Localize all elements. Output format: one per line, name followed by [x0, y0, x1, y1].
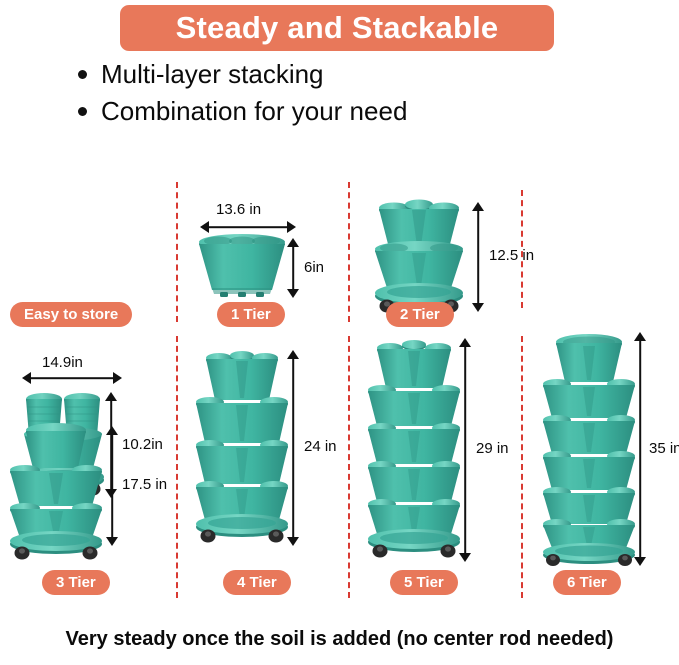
- arrow-shaft: [292, 245, 294, 291]
- footer-caption: Very steady once the soil is added (no c…: [0, 628, 679, 651]
- height-dimension-label: 17.5 in: [122, 476, 167, 493]
- height-dimension-arrow: [471, 202, 485, 312]
- height-dimension-arrow: [286, 238, 300, 298]
- badge-label: 5 Tier: [404, 574, 444, 591]
- badge-six-tier: 6 Tier: [553, 570, 621, 595]
- height-dimension-label: 29 in: [476, 440, 509, 457]
- page-title: Steady and Stackable: [176, 10, 499, 46]
- height-dimension-label: 12.5 in: [489, 247, 534, 264]
- planter-graphic-five-tier: [366, 336, 462, 564]
- planter-graphic-two-tier: [372, 196, 466, 316]
- badge-two-tier: 2 Tier: [386, 302, 454, 327]
- height-dimension-label: 6in: [304, 259, 324, 276]
- panel-one-tier: 13.6 in 6in: [176, 178, 348, 328]
- badge-label: 6 Tier: [567, 574, 607, 591]
- panel-five-tier: 29 in: [348, 336, 521, 598]
- bullet-label: Combination for your need: [101, 95, 407, 128]
- height-dimension-label: 24 in: [304, 438, 337, 455]
- bullet-dot-icon: [78, 70, 87, 79]
- badge-easy-to-store: Easy to store: [10, 302, 132, 327]
- badge-five-tier: 5 Tier: [390, 570, 458, 595]
- arrow-head-down-icon: [106, 537, 118, 546]
- planter-graphic-six-tier: [541, 330, 637, 570]
- width-dimension-arrow: [200, 220, 296, 234]
- badge-label: 4 Tier: [237, 574, 277, 591]
- badge-label: Easy to store: [24, 306, 118, 323]
- badge-label: 1 Tier: [231, 306, 271, 323]
- panel-two-tier: 12.5 in: [348, 178, 521, 328]
- arrow-shaft: [464, 345, 466, 555]
- list-item: Multi-layer stacking: [78, 58, 598, 91]
- arrow-head-right-icon: [287, 221, 296, 233]
- badge-three-tier: 3 Tier: [42, 570, 110, 595]
- height-dimension-label: 35 in: [649, 440, 679, 457]
- list-item: Combination for your need: [78, 95, 598, 128]
- badge-label: 2 Tier: [400, 306, 440, 323]
- bullet-label: Multi-layer stacking: [101, 58, 324, 91]
- panel-easy-to-store: 14.9in 10.2in: [0, 178, 176, 328]
- arrow-head-down-icon: [287, 289, 299, 298]
- arrow-shaft: [207, 226, 289, 228]
- feature-bullet-list: Multi-layer stacking Combination for you…: [78, 58, 598, 133]
- arrow-shaft: [292, 357, 294, 539]
- arrow-shaft: [111, 433, 113, 539]
- arrow-shaft: [639, 339, 641, 559]
- badge-label: 3 Tier: [56, 574, 96, 591]
- arrow-head-down-icon: [472, 303, 484, 312]
- arrow-shaft: [477, 209, 479, 305]
- product-infographic: Steady and Stackable Multi-layer stackin…: [0, 0, 679, 665]
- width-dimension-label: 13.6 in: [216, 201, 261, 218]
- panel-six-tier: 35 in: [521, 336, 679, 598]
- title-banner: Steady and Stackable: [120, 5, 554, 51]
- badge-one-tier: 1 Tier: [217, 302, 285, 327]
- planter-graphic-three-tier: [8, 420, 104, 560]
- badge-four-tier: 4 Tier: [223, 570, 291, 595]
- panel-three-tier: 17.5 in: [0, 336, 176, 598]
- planter-graphic-four-tier: [194, 348, 290, 548]
- panel-four-tier: 24 in: [176, 336, 348, 598]
- planter-graphic-one-tier: [196, 234, 288, 302]
- bullet-dot-icon: [78, 107, 87, 116]
- height-dimension-arrow: [105, 426, 119, 546]
